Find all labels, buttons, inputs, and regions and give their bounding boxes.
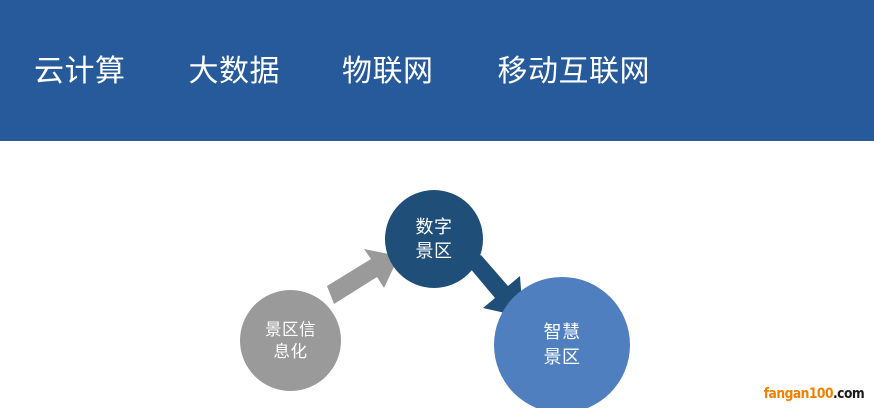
header-topic-big-data: 大数据: [189, 54, 281, 90]
header-topic-cloud-computing: 云计算: [34, 54, 126, 90]
slide-canvas: 云计算 大数据 物联网 移动互联网 景区信 息化 数字 景区 智慧 景区 fan: [0, 0, 874, 408]
header-topic-iot: 物联网: [342, 54, 434, 90]
diagram-node-informatization-label: 景区信 息化: [265, 319, 316, 363]
header-topic-list: 云计算 大数据 物联网 移动互联网: [34, 54, 650, 90]
header-topic-mobile-internet: 移动互联网: [498, 54, 651, 90]
watermark: fangan100.com: [764, 386, 864, 402]
diagram-node-digital-label: 数字 景区: [416, 215, 453, 263]
diagram-node-informatization: 景区信 息化: [240, 290, 341, 391]
watermark-site-name: fangan100: [764, 386, 833, 402]
watermark-site-tld: .com: [833, 386, 864, 402]
header-banner: 云计算 大数据 物联网 移动互联网: [0, 0, 874, 141]
diagram-node-smart-label: 智慧 景区: [544, 320, 581, 370]
diagram-node-smart: 智慧 景区: [494, 277, 630, 408]
progression-diagram: 景区信 息化 数字 景区 智慧 景区: [0, 141, 874, 408]
